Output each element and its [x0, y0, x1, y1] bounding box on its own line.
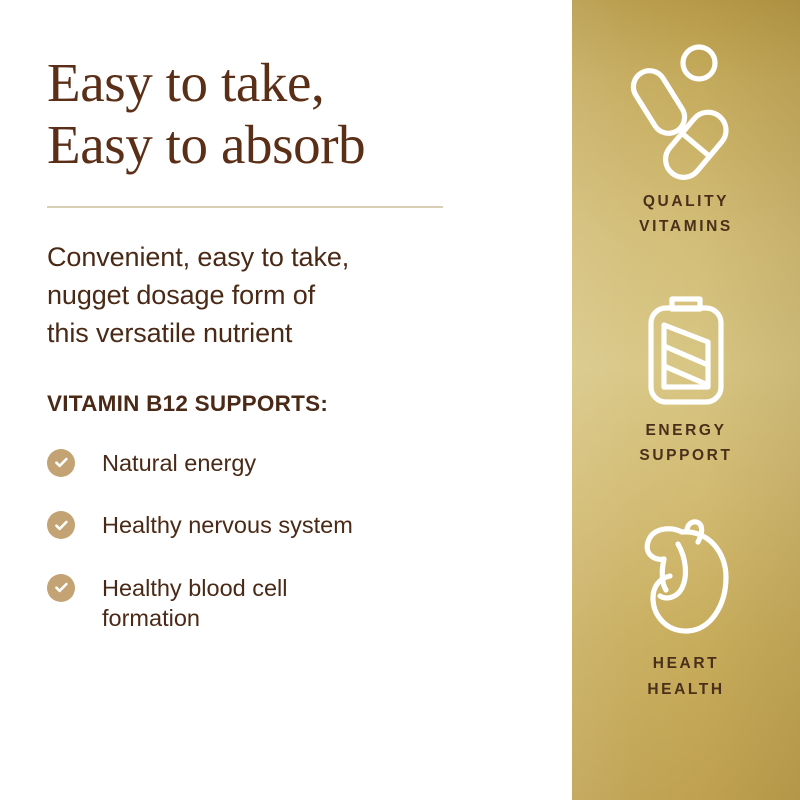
product-benefits-infographic: Easy to take, Easy to absorb Convenient,…	[0, 0, 800, 800]
page-title: Easy to take, Easy to absorb	[47, 52, 532, 175]
list-item: Natural energy	[47, 447, 532, 479]
check-icon	[47, 511, 75, 539]
heart-icon	[626, 514, 746, 647]
check-icon	[47, 449, 75, 477]
subhead-description: Convenient, easy to take, nugget dosage …	[47, 238, 532, 353]
list-item-label: Healthy blood cell formation	[102, 572, 288, 634]
check-icon	[47, 574, 75, 602]
features-sidebar: QUALITY VITAMINS ENE	[572, 0, 800, 800]
feature-label-heart-health: HEART HEALTH	[647, 651, 724, 701]
feature-quality-vitamins: QUALITY VITAMINS	[572, 40, 800, 239]
title-divider-rule	[47, 206, 443, 208]
supports-heading: VITAMIN B12 SUPPORTS:	[47, 391, 532, 417]
list-item: Healthy nervous system	[47, 509, 532, 541]
list-item-label: Healthy nervous system	[102, 509, 353, 541]
benefits-list: Natural energy Healthy nervous system He…	[47, 447, 532, 634]
list-item: Healthy blood cell formation	[47, 572, 532, 634]
pills-icon	[621, 40, 751, 185]
feature-label-quality-vitamins: QUALITY VITAMINS	[639, 189, 733, 239]
left-content-panel: Easy to take, Easy to absorb Convenient,…	[0, 0, 572, 800]
feature-energy-support: ENERGY SUPPORT	[572, 287, 800, 468]
feature-label-energy-support: ENERGY SUPPORT	[639, 418, 732, 468]
feature-heart-health: HEART HEALTH	[572, 514, 800, 701]
battery-icon	[634, 287, 738, 414]
list-item-label: Natural energy	[102, 447, 256, 479]
